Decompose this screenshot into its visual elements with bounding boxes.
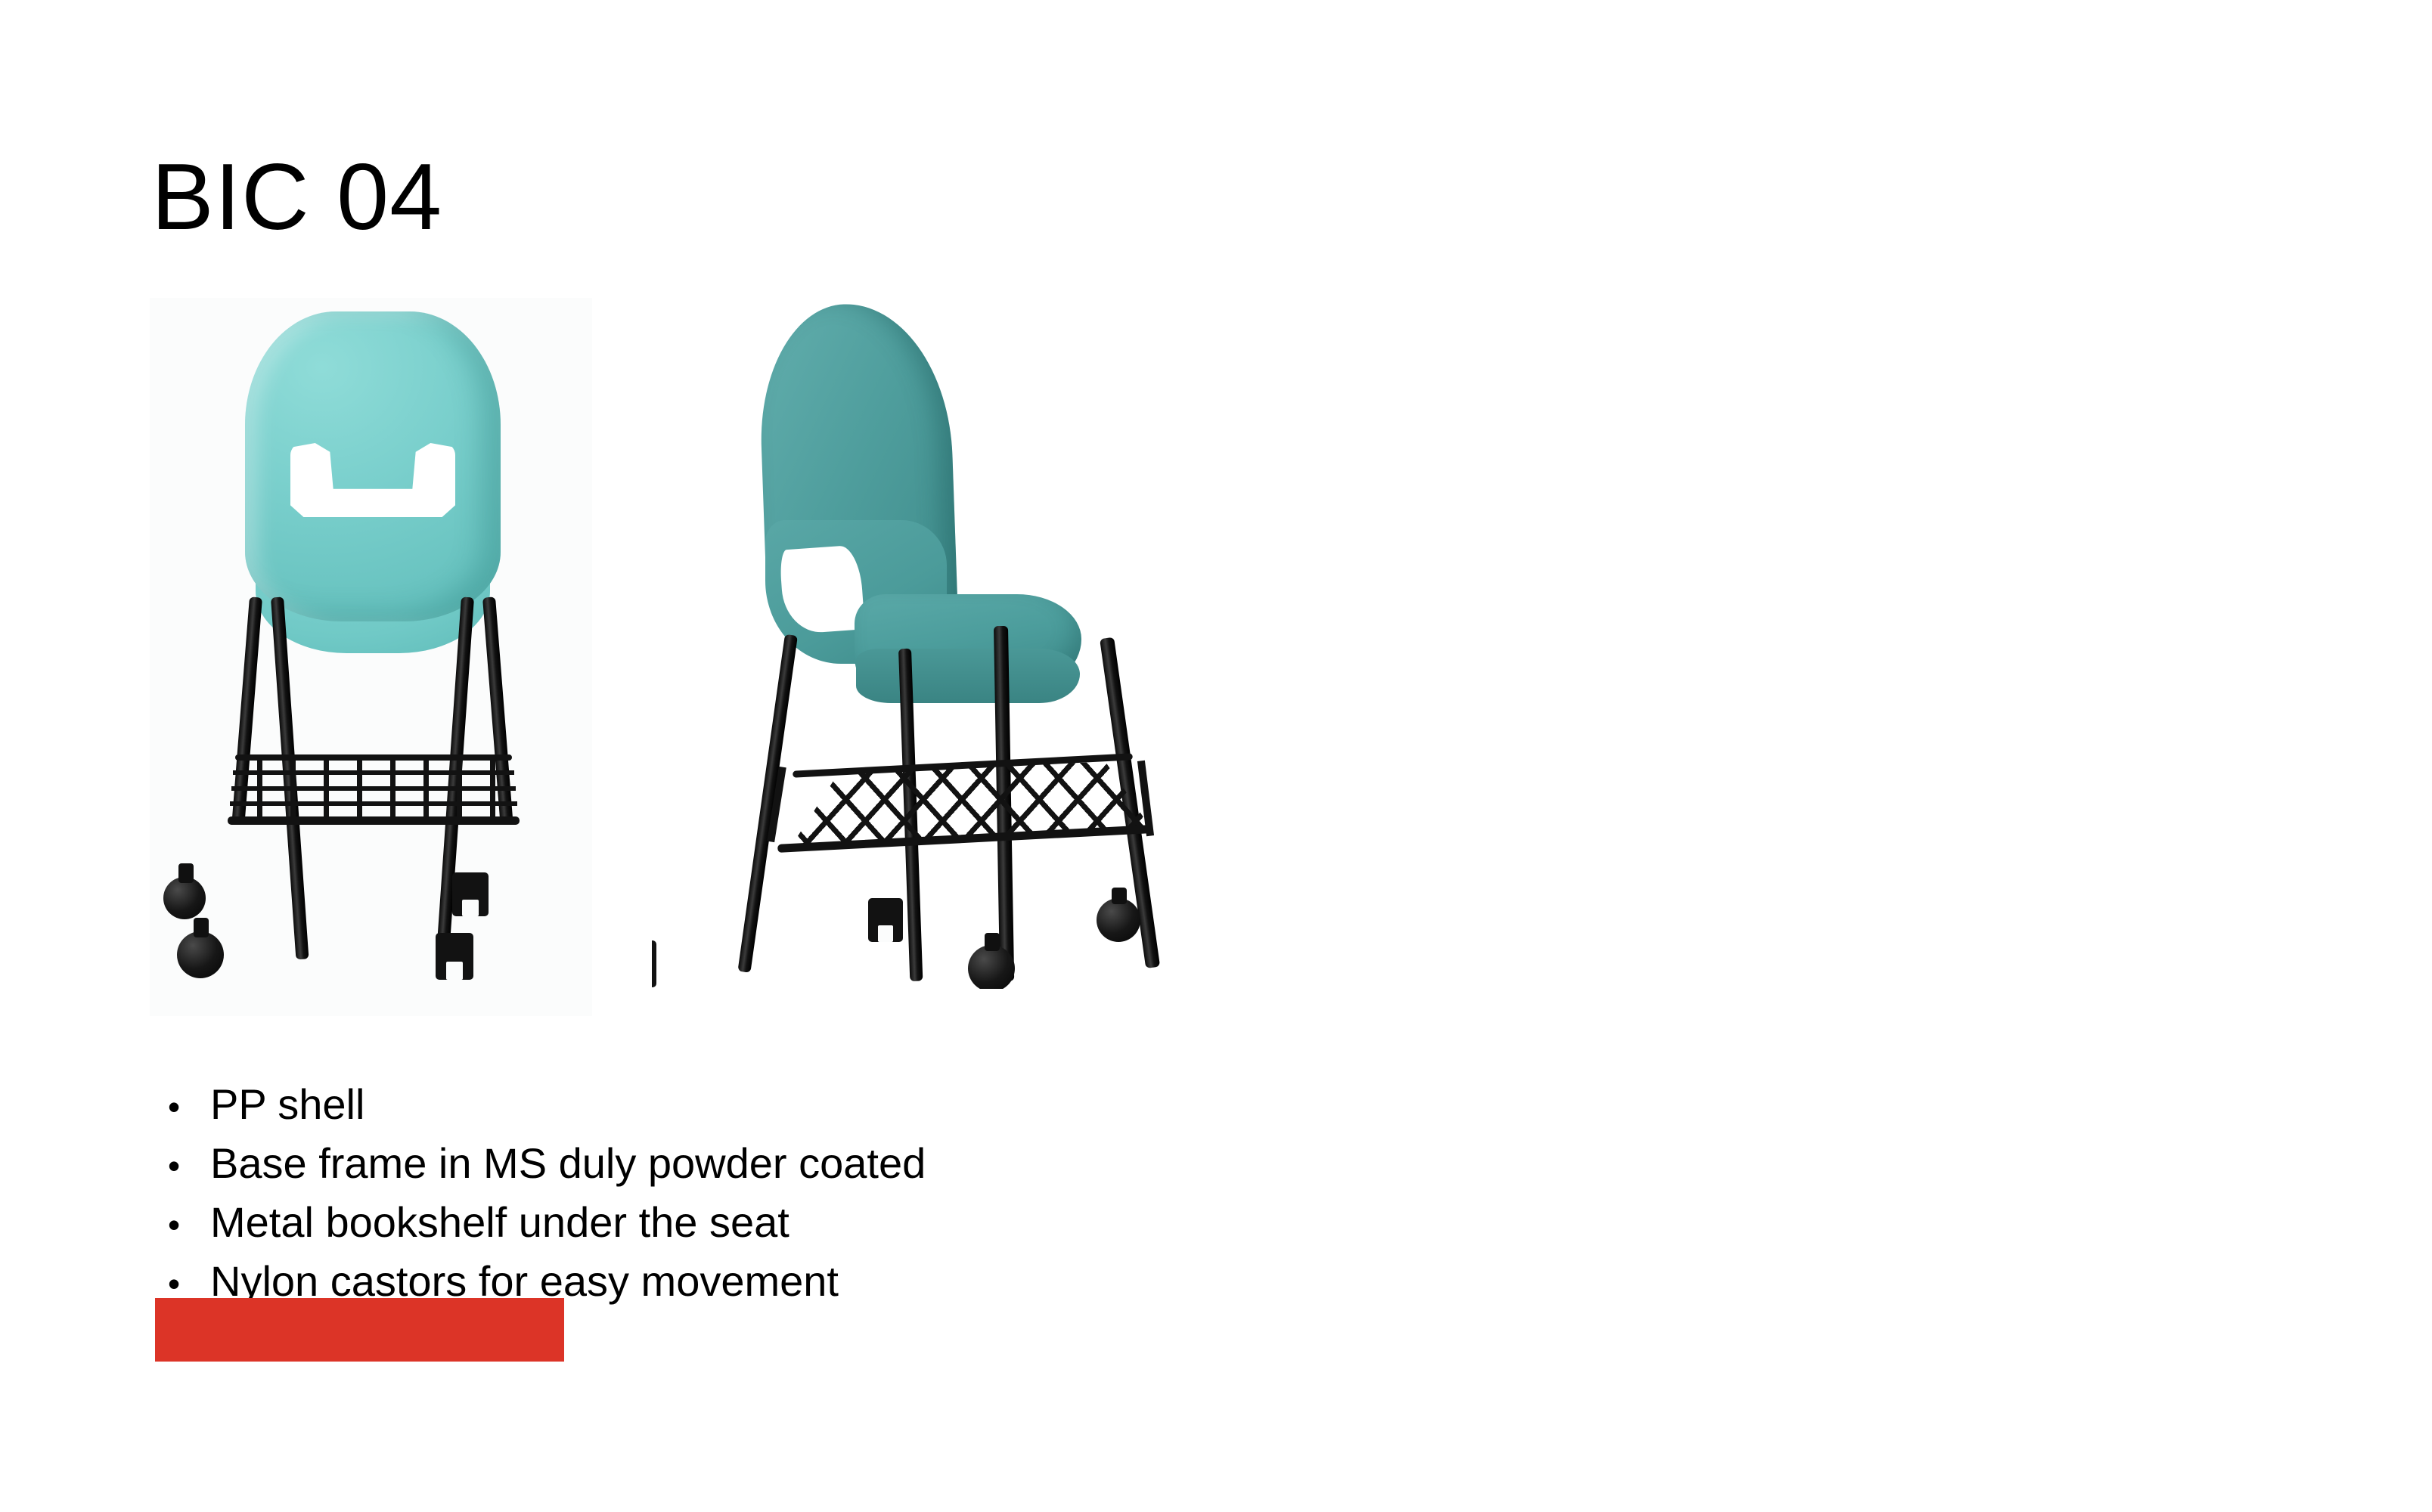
feature-text: Base frame in MS duly powder coated [210,1140,926,1188]
front-shelf-wire [324,754,329,821]
bullet-glyph-icon: • [156,1207,210,1242]
front-shelf-wire [490,754,495,821]
front-shelf-wire [457,754,462,821]
front-castor-stem [194,918,209,937]
side-shell-seat-front [856,649,1080,703]
front-shelf-rail-mid [231,786,516,791]
front-shelf-rail-mid-2 [230,801,517,806]
feature-text: PP shell [210,1081,364,1129]
front-shelf-rail-top [235,754,512,761]
front-shelf-rail-mid-3 [233,770,514,775]
feature-list: • PP shell • Base frame in MS duly powde… [156,1081,1366,1317]
front-castor-rear-right [452,872,489,916]
front-shell-handle-cutout [290,443,455,517]
side-castor-front [968,945,1015,989]
slide-canvas: BIC 04 [0,0,2432,1512]
side-castor-stem [1112,888,1127,904]
front-castor-front-left [177,931,224,978]
front-castor-front-right [436,933,473,980]
front-shelf-wire [290,754,296,821]
chair-front-view-image [150,298,592,1016]
side-castor-stem [985,933,1000,951]
side-leg-rear-left [737,634,797,973]
list-item: • Metal bookshelf under the seat [156,1199,1366,1258]
side-castor-rear-left [652,940,656,987]
bullet-glyph-icon: • [156,1148,210,1183]
front-shelf-wire [390,754,396,821]
feature-text: Metal bookshelf under the seat [210,1199,789,1247]
front-shelf-wire [423,754,429,821]
front-castor-rear-left [163,877,206,919]
front-shelf-rail-bottom [228,816,520,825]
front-castor-stem [178,863,194,883]
page-title: BIC 04 [151,148,442,246]
side-castor-mid [868,898,903,942]
front-shelf-wire [357,754,362,821]
chair-three-quarter-view-image [652,293,1198,989]
list-item: • PP shell [156,1081,1366,1140]
list-item: • Base frame in MS duly powder coated [156,1140,1366,1199]
side-castor-right [1097,898,1140,942]
accent-bar [155,1298,564,1362]
bullet-glyph-icon: • [156,1089,210,1124]
front-shelf-wire [257,754,262,821]
bullet-glyph-icon: • [156,1266,210,1301]
